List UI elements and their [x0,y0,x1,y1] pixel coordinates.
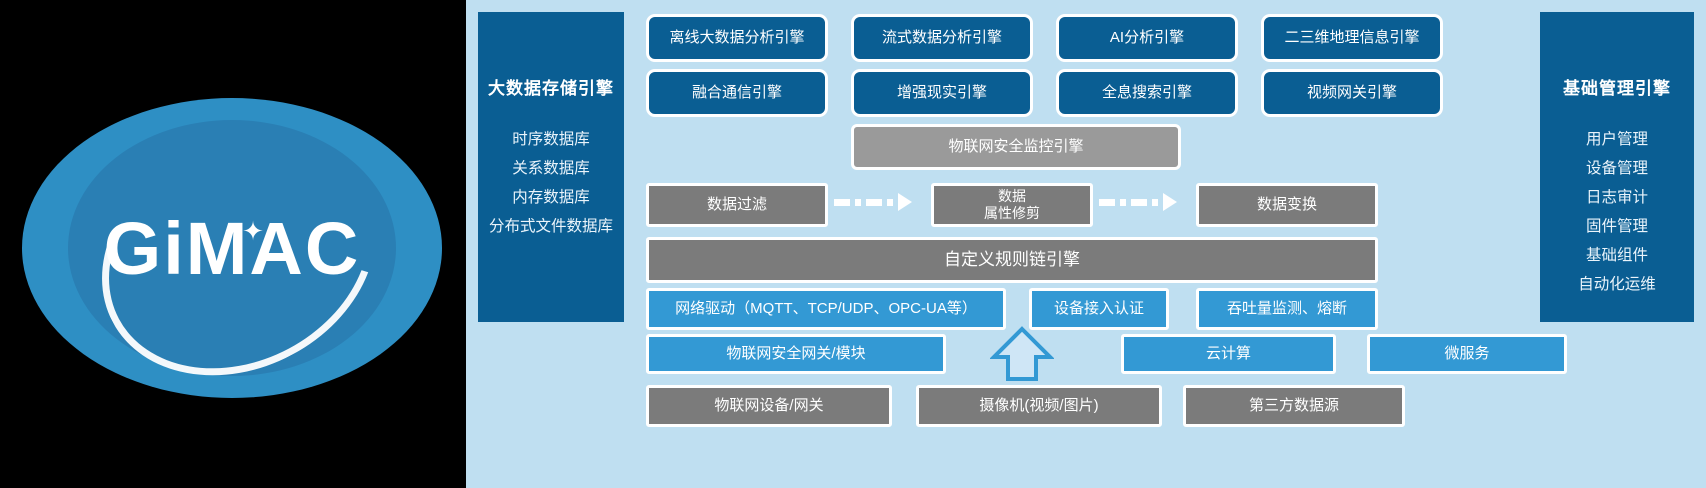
list-item: 自动化运维 [1578,272,1656,294]
diagram-canvas: 大数据存储引擎 时序数据库 关系数据库 内存数据库 分布式文件数据库 基础管理引… [466,0,1706,488]
list-item: 时序数据库 [512,127,590,149]
list-item: 日志审计 [1586,185,1648,207]
list-item: 分布式文件数据库 [489,214,613,236]
access-box-throughput-monitor[interactable]: 吞吐量监测、熔断 [1196,288,1378,330]
platform-box-microservice[interactable]: 微服务 [1367,334,1567,374]
list-item: 固件管理 [1586,214,1648,236]
engine-box-fusion-communication[interactable]: 融合通信引擎 [646,69,828,117]
pipeline-box-attribute-pruning[interactable]: 数据 属性修剪 [931,183,1093,227]
engine-box-holographic-search[interactable]: 全息搜索引擎 [1056,69,1238,117]
upward-flow-arrow-icon [990,326,1054,387]
basic-management-engine-column: 基础管理引擎 用户管理 设备管理 日志审计 固件管理 基础组件 自动化运维 [1540,12,1694,322]
engine-box-video-gateway[interactable]: 视频网关引擎 [1261,69,1443,117]
left-column-list: 时序数据库 关系数据库 内存数据库 分布式文件数据库 [489,127,613,236]
list-item: 关系数据库 [512,156,590,178]
logo-outer-ellipse: ✦ GiMAC [22,98,442,398]
platform-box-cloud-computing[interactable]: 云计算 [1121,334,1336,374]
engine-box-stream-analysis[interactable]: 流式数据分析引擎 [851,14,1033,62]
right-column-title: 基础管理引擎 [1563,74,1671,99]
engine-box-ai-analysis[interactable]: AI分析引擎 [1056,14,1238,62]
architecture-diagram-page: ✦ GiMAC 大数据存储引擎 时序数据库 关系数据库 内存数据库 分布式文件数… [0,0,1706,488]
left-column-title: 大数据存储引擎 [488,74,614,99]
engine-box-augmented-reality[interactable]: 增强现实引擎 [851,69,1033,117]
iot-security-monitor-engine-box[interactable]: 物联网安全监控引擎 [851,124,1181,170]
big-data-storage-engine-column: 大数据存储引擎 时序数据库 关系数据库 内存数据库 分布式文件数据库 [478,12,624,322]
engine-box-offline-bigdata[interactable]: 离线大数据分析引擎 [646,14,828,62]
custom-rule-chain-engine-box[interactable]: 自定义规则链引擎 [646,237,1378,283]
access-box-device-authentication[interactable]: 设备接入认证 [1029,288,1169,330]
list-item: 基础组件 [1586,243,1648,265]
source-box-iot-device-gateway[interactable]: 物联网设备/网关 [646,385,892,427]
engine-box-gis[interactable]: 二三维地理信息引擎 [1261,14,1443,62]
source-box-third-party-data[interactable]: 第三方数据源 [1183,385,1405,427]
platform-box-iot-security-gateway[interactable]: 物联网安全网关/模块 [646,334,946,374]
source-box-camera[interactable]: 摄像机(视频/图片) [916,385,1162,427]
flow-arrow-filter-to-pruning [834,197,926,207]
right-column-list: 用户管理 设备管理 日志审计 固件管理 基础组件 自动化运维 [1578,127,1656,294]
list-item: 设备管理 [1586,156,1648,178]
pipeline-box-data-transform[interactable]: 数据变换 [1196,183,1378,227]
pipeline-box-data-filter[interactable]: 数据过滤 [646,183,828,227]
logo-panel: ✦ GiMAC [0,0,466,488]
access-box-network-driver[interactable]: 网络驱动（MQTT、TCP/UDP、OPC-UA等） [646,288,1006,330]
flow-arrow-pruning-to-transform [1099,197,1191,207]
logo-wordmark: GiMAC [22,98,442,398]
list-item: 内存数据库 [512,185,590,207]
list-item: 用户管理 [1586,127,1648,149]
